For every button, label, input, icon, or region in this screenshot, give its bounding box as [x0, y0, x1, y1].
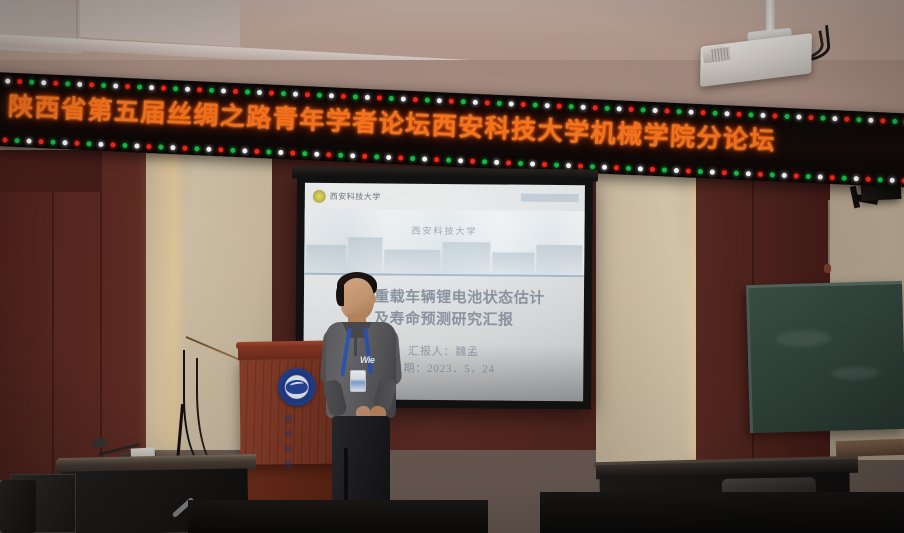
- led-dot: [65, 81, 70, 86]
- presenter-name-badge: [350, 370, 366, 392]
- podium-char-4: 技: [285, 459, 293, 470]
- led-dot: [662, 167, 667, 172]
- led-dot: [365, 94, 370, 99]
- led-dot: [15, 137, 20, 142]
- presenter-ear: [370, 294, 376, 304]
- led-dot: [688, 109, 693, 114]
- presenter-placket: [354, 334, 357, 356]
- projector-vent: [711, 47, 730, 62]
- building-block: [442, 242, 490, 276]
- led-dot: [758, 171, 763, 176]
- wall-light-glow-left: [140, 150, 180, 450]
- led-dot: [878, 177, 883, 182]
- presenter-hair-side: [336, 284, 344, 306]
- led-dot: [650, 166, 655, 171]
- led-dot: [796, 114, 801, 119]
- chalkboard: [746, 281, 904, 433]
- led-dot: [461, 99, 466, 104]
- led-dot: [281, 91, 286, 96]
- led-dot: [842, 175, 847, 180]
- led-dot: [206, 146, 211, 151]
- led-dot: [170, 145, 175, 150]
- led-dot: [590, 164, 595, 169]
- led-dot: [506, 160, 511, 165]
- led-dot: [724, 111, 729, 116]
- led-dot: [794, 173, 799, 178]
- led-dot: [278, 149, 283, 154]
- wall-panel-maroon-left-top: [0, 150, 100, 192]
- led-dot: [53, 80, 58, 85]
- led-dot: [437, 98, 442, 103]
- slide-header-accent-bar: [521, 194, 579, 203]
- led-dot: [197, 87, 202, 92]
- led-dot: [182, 145, 187, 150]
- led-dot: [149, 85, 154, 90]
- led-dot: [386, 154, 391, 159]
- led-dot: [449, 98, 454, 103]
- led-dot: [41, 80, 46, 85]
- led-dot: [245, 89, 250, 94]
- led-dot: [485, 100, 490, 105]
- led-dot: [413, 96, 418, 101]
- led-dot: [542, 161, 547, 166]
- led-dot: [458, 158, 463, 163]
- led-dot: [605, 105, 610, 110]
- led-dot: [401, 96, 406, 101]
- presenter-leg-gap: [344, 448, 348, 506]
- led-dot: [533, 102, 538, 107]
- podium-vertical-text: 西 安 科 技: [284, 414, 293, 470]
- shirt-logo: Wie: [360, 350, 382, 364]
- led-dot: [722, 170, 727, 175]
- led-dot: [494, 159, 499, 164]
- led-dot: [302, 151, 307, 156]
- led-dot: [593, 105, 598, 110]
- led-dot: [770, 172, 775, 177]
- led-dot: [434, 157, 439, 162]
- led-dot: [748, 112, 753, 117]
- led-dot: [569, 104, 574, 109]
- led-dot: [146, 143, 151, 148]
- chalk-smudge: [776, 330, 830, 348]
- led-dot: [242, 148, 247, 153]
- led-dot: [377, 95, 382, 100]
- baseboard: [836, 439, 904, 457]
- led-dot: [329, 93, 334, 98]
- led-dot: [362, 153, 367, 158]
- led-dot: [470, 158, 475, 163]
- led-dot: [746, 171, 751, 176]
- university-emblem-icon: [278, 368, 316, 406]
- led-dot: [700, 110, 705, 115]
- led-dot: [89, 82, 94, 87]
- led-dot: [350, 153, 355, 158]
- led-dot: [772, 113, 777, 118]
- led-dot: [353, 94, 358, 99]
- led-dot: [856, 117, 861, 122]
- led-dot: [161, 85, 166, 90]
- led-dot: [497, 100, 502, 105]
- led-dot: [629, 106, 634, 111]
- led-dot: [818, 174, 823, 179]
- led-dot: [98, 141, 103, 146]
- led-dot: [880, 118, 885, 123]
- led-dot: [698, 168, 703, 173]
- chalkboard-hanger-knob: [824, 264, 831, 273]
- podium-char-2: 安: [284, 429, 292, 440]
- led-dot: [482, 159, 487, 164]
- led-dot: [892, 118, 897, 123]
- led-dot: [290, 150, 295, 155]
- led-dot: [38, 139, 43, 144]
- led-dot: [686, 168, 691, 173]
- presenter: Wie: [316, 266, 406, 506]
- led-dot: [890, 177, 895, 182]
- led-dot: [233, 88, 238, 93]
- led-dot: [269, 90, 274, 95]
- led-dot: [832, 116, 837, 121]
- led-dot: [736, 111, 741, 116]
- led-dot: [638, 166, 643, 171]
- slide-logo-label: 西安科技大学: [330, 191, 381, 202]
- led-dot: [665, 108, 670, 113]
- led-dot: [101, 82, 106, 87]
- led-dot: [221, 88, 226, 93]
- shirt-logo-text: Wie: [360, 355, 374, 365]
- led-dot: [230, 147, 235, 152]
- led-dot: [782, 172, 787, 177]
- led-dot: [125, 83, 130, 88]
- led-dot: [509, 101, 514, 106]
- led-dot: [122, 142, 127, 147]
- podium-char-3: 科: [284, 444, 292, 455]
- led-dot: [3, 137, 8, 142]
- led-dot: [734, 170, 739, 175]
- led-dot: [521, 101, 526, 106]
- presenter-legs: [332, 416, 390, 508]
- led-dot: [305, 92, 310, 97]
- led-dot: [254, 148, 259, 153]
- chalkboard-hanger-cord: [828, 200, 830, 268]
- led-dot: [398, 155, 403, 160]
- led-dot: [86, 141, 91, 146]
- led-dot: [446, 157, 451, 162]
- led-dot: [389, 95, 394, 100]
- led-dot: [185, 86, 190, 91]
- led-dot: [518, 160, 523, 165]
- led-dot: [374, 154, 379, 159]
- ceiling-seam: [76, 0, 78, 44]
- led-dot: [830, 174, 835, 179]
- led-dot: [614, 165, 619, 170]
- led-dot: [341, 93, 346, 98]
- led-dot: [674, 167, 679, 172]
- led-dot: [677, 108, 682, 113]
- led-dot: [854, 176, 859, 181]
- led-dot: [473, 99, 478, 104]
- led-dot: [326, 152, 331, 157]
- led-dot: [338, 152, 343, 157]
- led-dot: [134, 143, 139, 148]
- led-dot: [844, 116, 849, 121]
- led-dot: [50, 139, 55, 144]
- led-dot: [5, 78, 10, 83]
- led-dot: [602, 164, 607, 169]
- led-dot: [317, 92, 322, 97]
- led-dot: [314, 151, 319, 156]
- led-dot: [158, 144, 163, 149]
- led-dot: [710, 169, 715, 174]
- led-dot: [868, 117, 873, 122]
- podium-char-1: 西: [284, 414, 292, 425]
- chalk-smudge: [831, 367, 879, 380]
- led-dot: [808, 114, 813, 119]
- led-dot: [806, 173, 811, 178]
- slide-header: 西安科技大学: [305, 183, 585, 211]
- led-dot: [17, 79, 22, 84]
- led-dot: [545, 102, 550, 107]
- led-dot: [173, 86, 178, 91]
- led-dot: [293, 91, 298, 96]
- led-dot: [566, 163, 571, 168]
- led-dot: [578, 163, 583, 168]
- foreground-desk-right: [540, 492, 904, 533]
- slide-photo-caption: 西安科技大学: [304, 223, 584, 238]
- building-block: [536, 245, 582, 277]
- led-dot: [784, 113, 789, 118]
- led-dot: [626, 165, 631, 170]
- led-dot: [209, 87, 214, 92]
- panel-seam: [52, 150, 54, 480]
- led-dot: [137, 84, 142, 89]
- led-dot: [110, 142, 115, 147]
- led-dot: [266, 149, 271, 154]
- led-dot: [760, 112, 765, 117]
- led-dot: [712, 110, 717, 115]
- led-dot: [218, 147, 223, 152]
- building-block: [492, 252, 534, 276]
- wall-panel-maroon-left: [0, 150, 152, 480]
- led-dot: [74, 140, 79, 145]
- led-dot: [113, 83, 118, 88]
- led-dot: [77, 81, 82, 86]
- led-dot: [557, 103, 562, 108]
- led-dot: [530, 161, 535, 166]
- chair-left: [0, 480, 36, 533]
- led-dot: [62, 140, 67, 145]
- lecture-hall-photo: 陕西省第五届丝绸之路青年学者论坛西安科技大学机械学院分论坛 西安科技大学: [0, 0, 904, 533]
- led-dot: [581, 104, 586, 109]
- led-dot: [641, 107, 646, 112]
- led-dot: [29, 79, 34, 84]
- led-dot: [425, 97, 430, 102]
- foreground-desk-left: [188, 500, 488, 533]
- led-dot: [554, 162, 559, 167]
- led-dot: [866, 176, 871, 181]
- panel-seam: [100, 150, 102, 480]
- led-dot: [410, 155, 415, 160]
- led-dot: [26, 138, 31, 143]
- led-dot: [194, 146, 199, 151]
- led-dot: [617, 106, 622, 111]
- led-dot: [653, 107, 658, 112]
- led-dot: [257, 89, 262, 94]
- led-dot: [422, 156, 427, 161]
- university-logo-icon: [313, 189, 326, 202]
- led-dot: [820, 115, 825, 120]
